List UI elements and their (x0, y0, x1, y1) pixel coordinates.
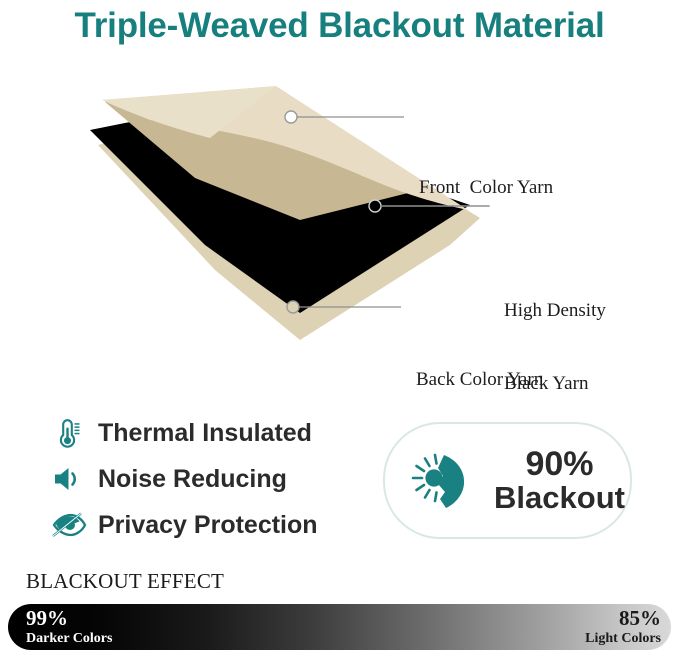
speaker-icon (48, 462, 90, 496)
blackout-badge-text: 90% Blackout (489, 447, 630, 515)
feature-item-thermal-insulated: Thermal Insulated (48, 410, 378, 456)
blackout-effect-darker: 99% Darker Colors (26, 604, 112, 650)
feature-label: Noise Reducing (98, 465, 287, 494)
label-front-color-yarn: Front Color Yarn (419, 176, 553, 200)
eye-slash-icon (48, 508, 90, 542)
blackout-effect-light: 85% Light Colors (585, 604, 661, 650)
feature-label: Privacy Protection (98, 511, 318, 540)
sun-blocked-icon (407, 446, 477, 516)
darker-percent: 99% (26, 607, 112, 631)
light-percent: 85% (619, 607, 661, 631)
blackout-word: Blackout (489, 482, 630, 514)
feature-list: Thermal Insulated Noise Reducing (48, 410, 378, 548)
feature-item-privacy-protection: Privacy Protection (48, 502, 378, 548)
blackout-effect-heading: BLACKOUT EFFECT (26, 569, 224, 594)
feature-item-noise-reducing: Noise Reducing (48, 456, 378, 502)
blackout-badge: 90% Blackout (383, 422, 632, 539)
light-caption: Light Colors (585, 631, 661, 647)
feature-label: Thermal Insulated (98, 419, 312, 448)
fabric-layer-diagram: Front Color Yarn High Density Black Yarn… (0, 70, 679, 360)
page-title: Triple-Weaved Blackout Material (0, 0, 679, 52)
infographic-root: Triple-Weaved Blackout Material (0, 0, 679, 656)
blackout-percent: 90% (489, 447, 630, 482)
label-high-density-black-yarn: High Density Black Yarn (504, 250, 606, 445)
darker-caption: Darker Colors (26, 631, 112, 647)
label-line-1: High Density (504, 299, 606, 323)
thermometer-icon (48, 416, 90, 450)
label-back-color-yarn: Back Color Yarn (416, 368, 543, 392)
